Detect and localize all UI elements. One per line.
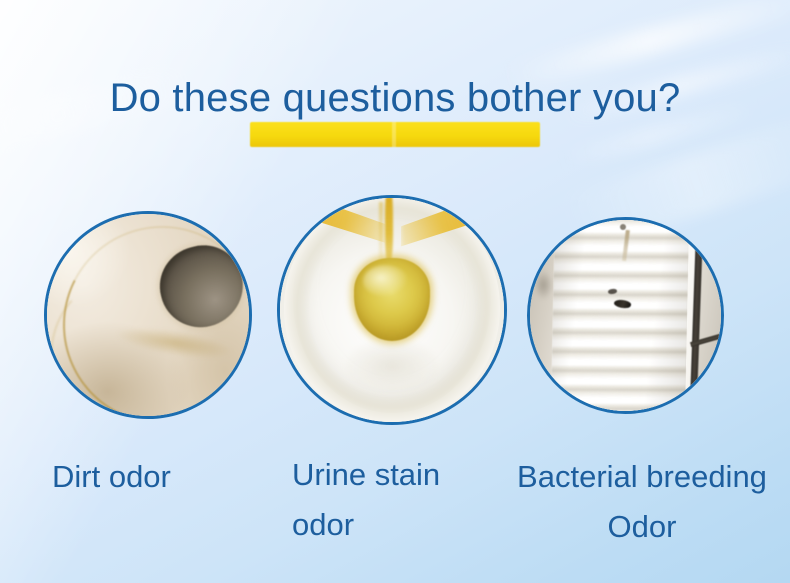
caption-bacterial-breeding-odor: Bacterial breeding Odor <box>494 452 790 552</box>
urine-stained-toilet-photo <box>280 198 504 422</box>
bacteria-breeding-surface-photo <box>530 220 721 411</box>
caption-urine-stain-odor: Urine stain odor <box>292 450 507 550</box>
wall-smudge <box>534 270 553 301</box>
urine-pool-highlight <box>363 265 408 296</box>
yellow-highlight-bar <box>250 122 540 147</box>
insect-mark-secondary <box>608 288 617 294</box>
headline-block: Do these questions bother you? <box>0 72 790 152</box>
page-title: Do these questions bother you? <box>0 72 790 124</box>
image-circle-dirt-odor <box>44 211 252 419</box>
urine-drip-secondary <box>379 202 383 260</box>
caption-dirt-odor: Dirt odor <box>52 452 282 502</box>
promo-poster: Do these questions bother you? <box>0 0 790 583</box>
image-circle-urine-stain-odor <box>277 195 507 425</box>
ribbed-stack-shading <box>551 220 689 411</box>
stained-toilet-bowl-photo <box>47 214 249 416</box>
image-circle-bacterial-breeding-odor <box>527 217 724 414</box>
bowl-shadow <box>343 337 442 395</box>
